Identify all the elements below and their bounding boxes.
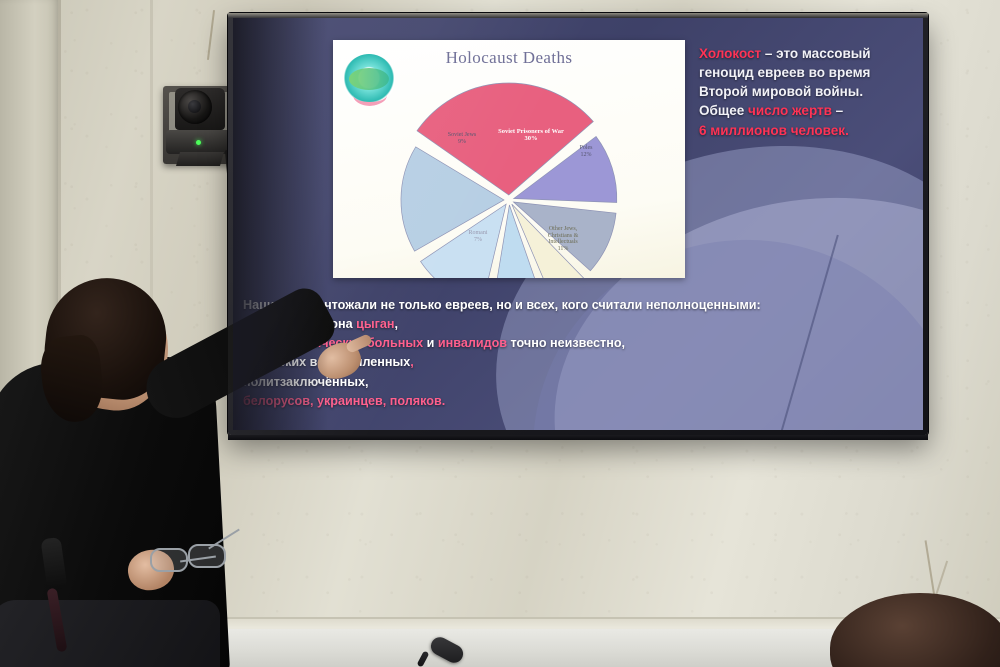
pie-label-text: Intellectuals [523, 239, 603, 246]
lecture-room-photo: Holocaust Deaths Soviet Prisoners of War… [0, 0, 1000, 667]
text-run: 6 миллионов человек. [699, 123, 849, 138]
pie-label-text: Soviet Jews [419, 132, 505, 139]
pie-slice-label: Other Jews,Christians &Intellectuals11% [523, 226, 603, 253]
camera-lens-icon [178, 90, 212, 124]
text-run: , [410, 355, 414, 369]
text-line-5: 6 миллионов человек. [699, 121, 914, 140]
text-run: Общее [699, 103, 748, 118]
text-line-6: белорусов, украинцев, поляков. [243, 392, 915, 411]
camera-arm [176, 152, 224, 166]
presenter-hip [0, 600, 220, 667]
text-run: цыган [356, 317, 394, 331]
text-run: инвалидов [438, 336, 507, 350]
pie-label-text: Romani [443, 230, 513, 237]
text-line-3: Второй мировой войны. [699, 82, 914, 101]
pie-slice-label: Romani7% [443, 230, 513, 243]
text-line-4: Общее число жертв – [699, 101, 914, 120]
text-line-1: Холокост – это массовый [699, 44, 914, 63]
text-run: число жертв [748, 103, 832, 118]
presenter [0, 300, 330, 667]
pie-slice-label: Poles12% [551, 145, 621, 158]
pie-chart: Soviet Prisoners of War30%Poles12%Other … [333, 40, 685, 278]
text-line-2: геноцид евреев во время [699, 63, 914, 82]
tv-bottom-edge [228, 435, 928, 440]
pie-label-text: Christians & [523, 233, 603, 240]
pie-label-percent: 9% [419, 139, 505, 146]
slide-right-paragraph: Холокост – это массовыйгеноцид евреев во… [699, 44, 914, 140]
pie-label-percent: 7% [443, 237, 513, 244]
pie-label-text: Other Jews, [523, 226, 603, 233]
text-run: геноцид евреев во время [699, 65, 870, 80]
text-line-1: Нацисты уничтожали не только евреев, но … [243, 296, 915, 315]
text-run: Холокост [699, 46, 761, 61]
text-line-2: свыше миллиона цыган, [243, 315, 915, 334]
eyeglasses [150, 536, 236, 576]
chart-container: Holocaust Deaths Soviet Prisoners of War… [333, 40, 685, 278]
pie-label-text: Poles [551, 145, 621, 152]
pie-label-percent: 11% [523, 246, 603, 253]
pie-label-percent: 12% [551, 152, 621, 159]
text-run: , [394, 317, 398, 331]
text-run: – это массовый [761, 46, 870, 61]
text-run: – [832, 103, 843, 118]
text-run: точно неизвестно, [507, 336, 625, 350]
pie-slice-label: Soviet Jews9% [419, 132, 505, 145]
camera-status-led [196, 140, 201, 145]
text-run: Второй мировой войны. [699, 84, 863, 99]
text-run: и [423, 336, 438, 350]
